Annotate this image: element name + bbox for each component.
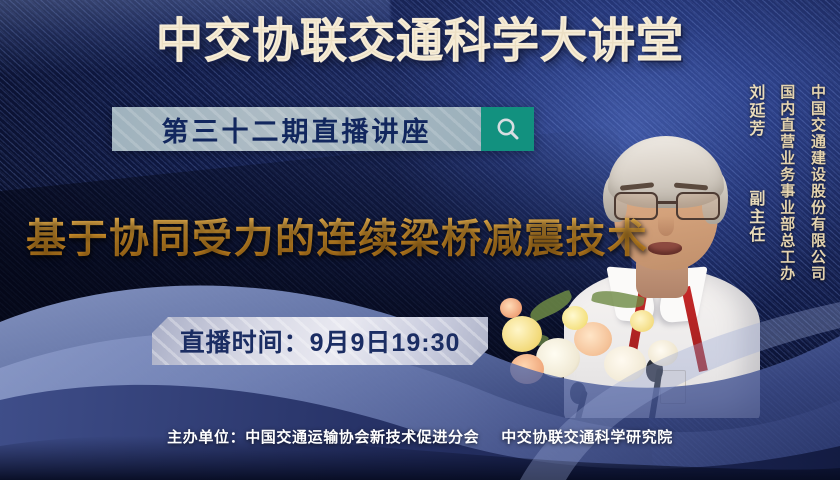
page-title: 中交协联交通科学大讲堂 bbox=[0, 16, 840, 66]
speaker-name: 刘延芳 bbox=[746, 84, 763, 138]
search-icon[interactable] bbox=[481, 107, 534, 151]
episode-banner[interactable]: 第三十二期直播讲座 bbox=[112, 107, 534, 151]
glasses-bridge bbox=[658, 201, 676, 204]
footer-org-2: 中交协联交通科学研究院 bbox=[501, 429, 673, 446]
speaker-nose bbox=[658, 216, 674, 236]
speaker-job-title: 副主任 bbox=[746, 190, 763, 244]
speaker-info: 刘延芳 副主任 国内直营业务事业部总工办 中国交通建设股份有限公司 bbox=[742, 84, 828, 282]
speaker-name-and-title: 刘延芳 副主任 bbox=[742, 84, 766, 244]
livestream-time-badge: 直播时间：9月9日19:30 bbox=[152, 317, 488, 365]
speaker-company: 中国交通建设股份有限公司 bbox=[805, 84, 828, 282]
footer-organizers: 主办单位：中国交通运输协会新技术促进分会中交协联交通科学研究院 bbox=[0, 426, 840, 447]
speaker-department: 国内直营业务事业部总工办 bbox=[774, 84, 797, 282]
livestream-poster: 中交协联交通科学大讲堂 第三十二期直播讲座 基于协同受力的连续梁桥减震技术 直播… bbox=[0, 0, 840, 480]
footer-org-1: 中国交通运输协会新技术促进分会 bbox=[245, 429, 479, 446]
lecture-title: 基于协同受力的连续梁桥减震技术 bbox=[26, 206, 649, 264]
glasses-lens-right bbox=[676, 192, 720, 220]
episode-label: 第三十二期直播讲座 bbox=[112, 107, 481, 151]
footer-prefix: 主办单位： bbox=[167, 429, 245, 446]
